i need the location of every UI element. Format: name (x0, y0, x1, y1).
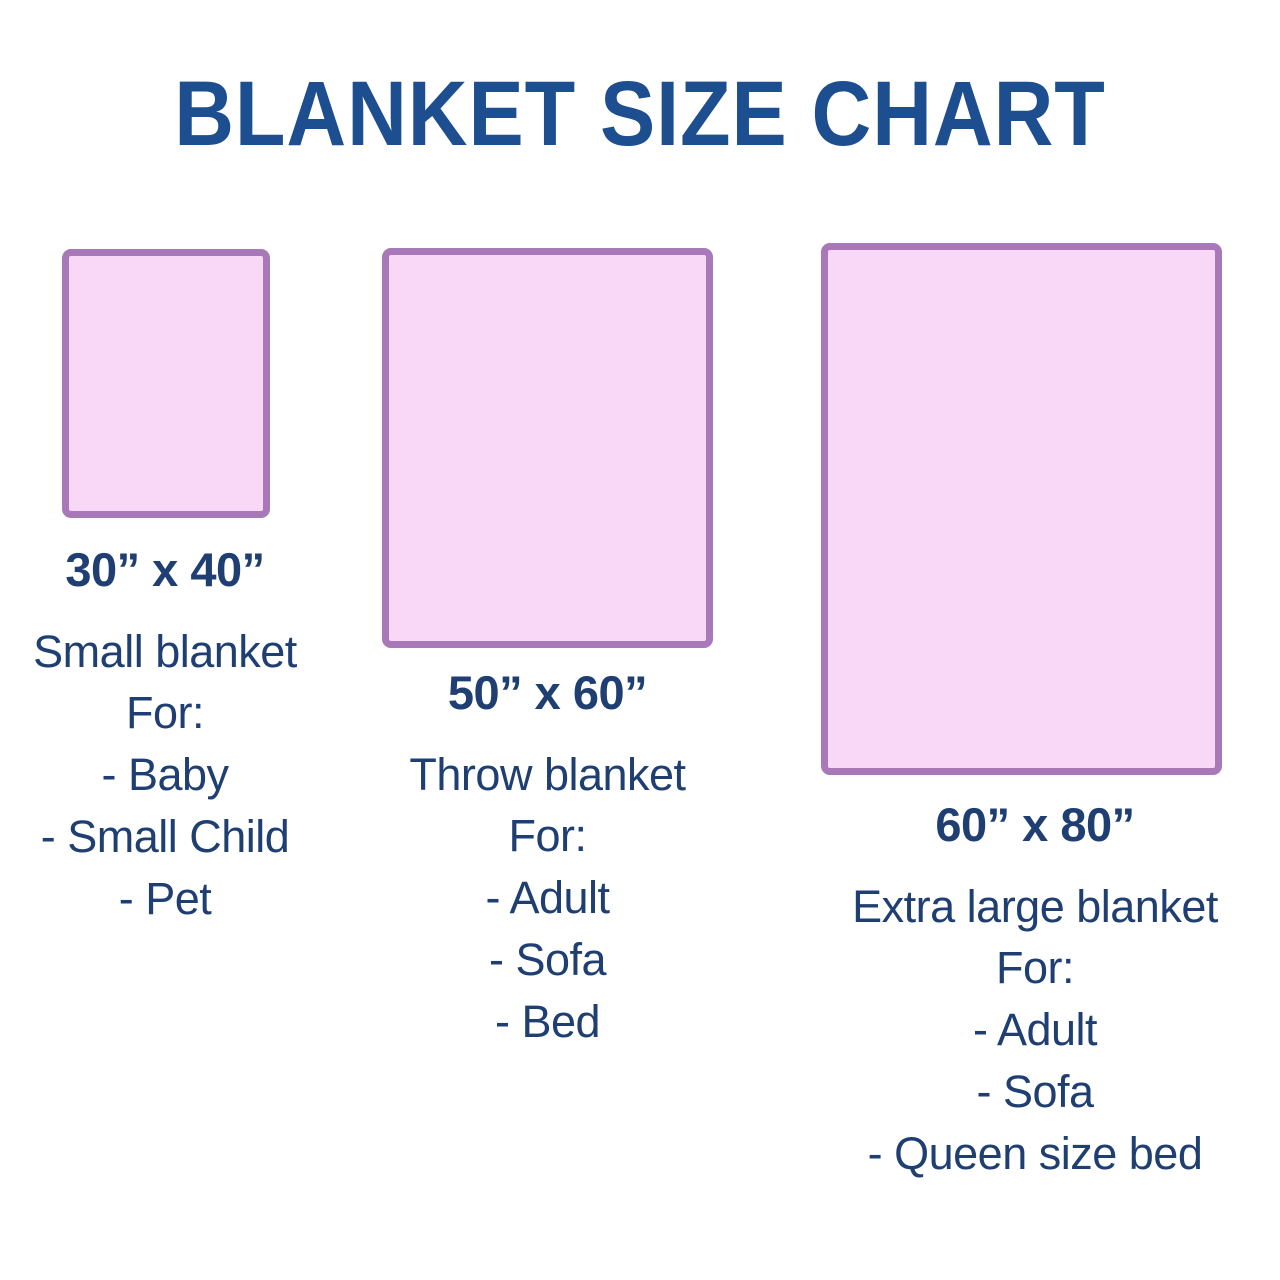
blanket-swatch-small (62, 249, 270, 518)
for-label-throw: For: (385, 805, 710, 867)
use-item: - Adult (800, 999, 1270, 1061)
use-item: - Small Child (0, 806, 330, 868)
blanket-info-small: 30” x 40” Small blanket For: - Baby - Sm… (0, 540, 330, 930)
use-item: - Pet (0, 868, 330, 930)
use-item: - Sofa (800, 1061, 1270, 1123)
blanket-info-throw: 50” x 60” Throw blanket For: - Adult - S… (385, 663, 710, 1053)
use-item: - Adult (385, 867, 710, 929)
for-label-small: For: (0, 682, 330, 744)
blanket-type-extra-large: Extra large blanket (800, 877, 1270, 937)
for-label-extra-large: For: (800, 937, 1270, 999)
dimension-label-extra-large: 60” x 80” (800, 795, 1270, 855)
use-item: - Bed (385, 991, 710, 1053)
dimension-label-throw: 50” x 60” (385, 663, 710, 723)
blanket-size-chart: BLANKET SIZE CHART 30” x 40” Small blank… (0, 0, 1280, 1280)
use-list-throw: - Adult - Sofa - Bed (385, 867, 710, 1053)
use-item: - Sofa (385, 929, 710, 991)
blanket-swatch-throw (382, 248, 713, 648)
blanket-info-extra-large: 60” x 80” Extra large blanket For: - Adu… (800, 795, 1270, 1185)
blanket-swatch-extra-large (821, 243, 1222, 775)
page-title: BLANKET SIZE CHART (64, 66, 1216, 162)
use-item: - Queen size bed (800, 1123, 1270, 1185)
use-item: - Baby (0, 744, 330, 806)
use-list-small: - Baby - Small Child - Pet (0, 744, 330, 930)
use-list-extra-large: - Adult - Sofa - Queen size bed (800, 999, 1270, 1185)
blanket-type-throw: Throw blanket (385, 745, 710, 805)
blanket-type-small: Small blanket (0, 622, 330, 682)
dimension-label-small: 30” x 40” (0, 540, 330, 600)
